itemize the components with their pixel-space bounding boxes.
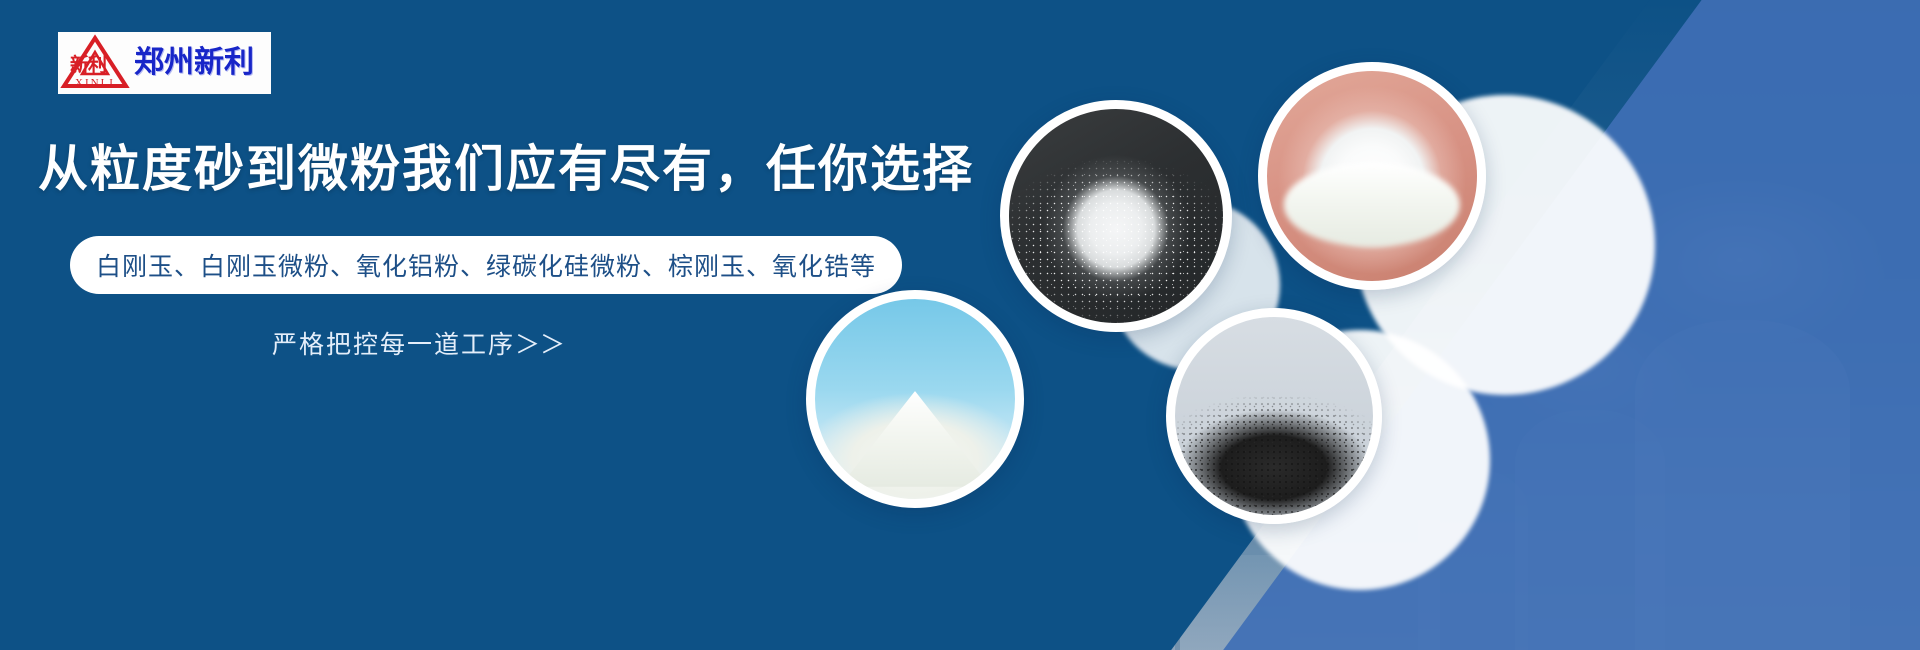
company-wordmark: 郑州新利	[134, 48, 254, 78]
company-logo[interactable]: 新利 XINLI 郑州新利	[58, 32, 271, 94]
xinli-triangle-icon: 新利 XINLI	[58, 32, 132, 94]
product-circle-white-fused-alumina-grit[interactable]	[1000, 100, 1232, 332]
cta-arrows: ＞＞	[515, 331, 565, 359]
cta-link[interactable]: 严格把控每一道工序＞＞	[272, 325, 565, 361]
product-circle-green-silicon-carbide[interactable]	[1166, 308, 1382, 524]
grain-texture	[1009, 109, 1223, 323]
product-list-text: 白刚玉、白刚玉微粉、氧化铝粉、绿碳化硅微粉、棕刚玉、氧化锆等	[96, 247, 876, 283]
promo-banner: 新利 XINLI 郑州新利 从粒度砂到微粉我们应有尽有，任你选择 白刚玉、白刚玉…	[0, 0, 1920, 650]
powder-mound	[1284, 163, 1460, 247]
xinli-mark-subtext: XINLI	[58, 77, 132, 89]
product-circle-alumina-powder-cone[interactable]	[806, 290, 1024, 508]
xinli-mark-text: 新利	[62, 54, 114, 78]
powder-cone	[843, 391, 987, 487]
product-circle-white-alumina-micropowder[interactable]	[1258, 62, 1486, 290]
product-list-pill: 白刚玉、白刚玉微粉、氧化铝粉、绿碳化硅微粉、棕刚玉、氧化锆等	[70, 236, 902, 294]
grain-texture-dark	[1175, 317, 1373, 515]
cta-label: 严格把控每一道工序	[272, 331, 515, 359]
headline: 从粒度砂到微粉我们应有尽有，任你选择	[38, 142, 974, 197]
